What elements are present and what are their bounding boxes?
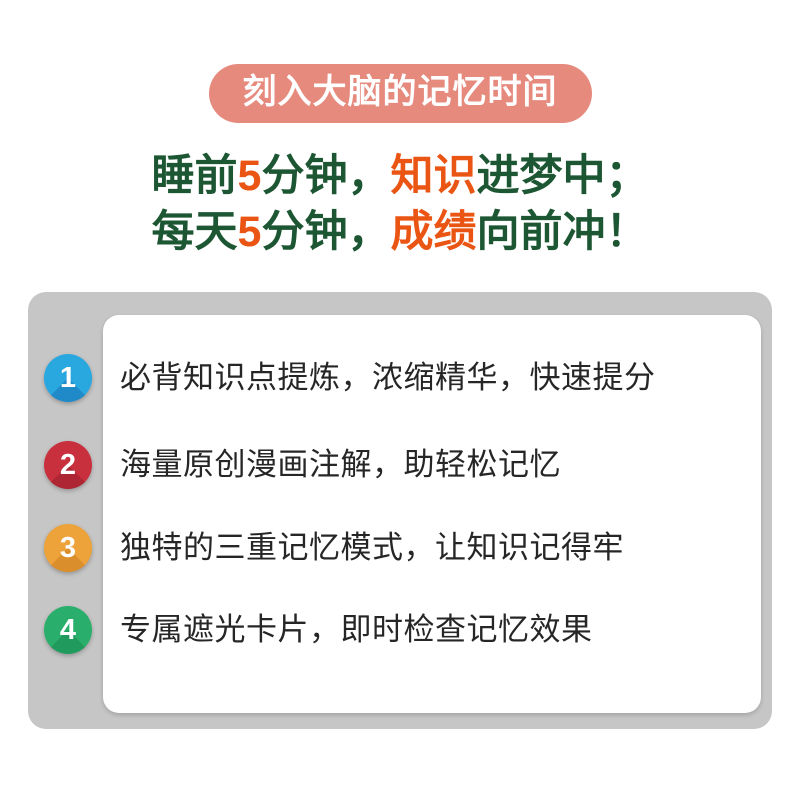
badge-number-3: 3	[44, 524, 92, 572]
headline-line-1: 睡前5分钟，知识进梦中；	[0, 148, 800, 204]
headline-l2-seg-4: 成绩	[390, 208, 476, 256]
badge-label: 1	[44, 354, 92, 402]
headline-l2-seg-3: 分钟，	[261, 208, 390, 256]
feature-text: 海量原创漫画注解，助轻松记忆	[120, 446, 561, 483]
headline-l2-seg-1: 每天	[152, 208, 238, 256]
headline: 睡前5分钟，知识进梦中； 每天5分钟，成绩向前冲！	[0, 148, 800, 260]
headline-l2-seg-5: 向前冲！	[476, 208, 648, 256]
list-item: 2 海量原创漫画注解，助轻松记忆	[28, 437, 772, 493]
headline-l1-seg-3: 分钟，	[261, 152, 390, 200]
badge-label: 3	[44, 524, 92, 572]
headline-l1-seg-4: 知识	[390, 152, 476, 200]
feature-text: 必背知识点提炼，浓缩精华，快速提分	[120, 359, 656, 396]
headline-l1-seg-5: 进梦中；	[476, 152, 648, 200]
list-item: 3 独特的三重记忆模式，让知识记得牢	[28, 520, 772, 576]
feature-text: 专属遮光卡片，即时检查记忆效果	[120, 611, 593, 648]
badge-number-1: 1	[44, 354, 92, 402]
badge-number-2: 2	[44, 441, 92, 489]
list-item: 4 专属遮光卡片，即时检查记忆效果	[28, 602, 772, 658]
banner-pill: 刻入大脑的记忆时间	[209, 64, 592, 123]
badge-label: 2	[44, 441, 92, 489]
headline-line-2: 每天5分钟，成绩向前冲！	[0, 204, 800, 260]
banner-container: 刻入大脑的记忆时间	[0, 64, 800, 123]
headline-l2-seg-2: 5	[238, 208, 262, 256]
badge-number-4: 4	[44, 606, 92, 654]
badge-label: 4	[44, 606, 92, 654]
feature-text: 独特的三重记忆模式，让知识记得牢	[120, 529, 624, 566]
feature-list: 1 必背知识点提炼，浓缩精华，快速提分 2 海量原创漫画注解，助轻松记忆 3 独…	[28, 292, 772, 729]
headline-l1-seg-2: 5	[238, 152, 262, 200]
headline-l1-seg-1: 睡前	[152, 152, 238, 200]
list-item: 1 必背知识点提炼，浓缩精华，快速提分	[28, 350, 772, 406]
